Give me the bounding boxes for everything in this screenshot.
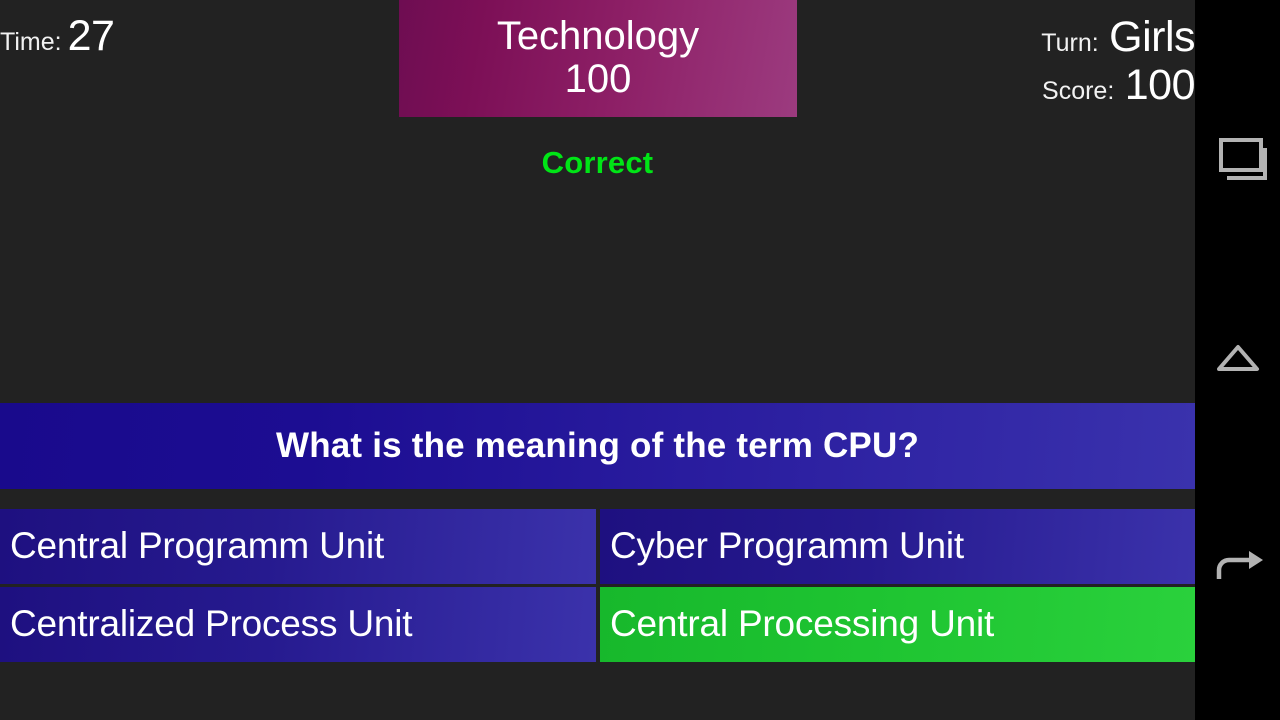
answer-option-3[interactable]: Centralized Process Unit <box>0 587 596 662</box>
app-screen: Time: 27 Turn: Girls Score: 100 Technolo… <box>0 0 1280 720</box>
home-icon <box>1207 329 1269 391</box>
turn-value: Girls <box>1109 13 1195 61</box>
answer-option-2[interactable]: Cyber Programm Unit <box>600 509 1195 584</box>
answer-options-grid: Central Programm Unit Cyber Programm Uni… <box>0 509 1195 662</box>
home-button[interactable] <box>1195 317 1280 403</box>
question-banner: What is the meaning of the term CPU? <box>0 403 1195 489</box>
quiz-game-area: Time: 27 Turn: Girls Score: 100 Technolo… <box>0 0 1195 720</box>
answer-option-4-label: Central Processing Unit <box>610 605 994 644</box>
timer-label: Time: <box>0 28 62 57</box>
back-arrow-icon <box>1207 529 1269 591</box>
category-points: 100 <box>565 57 632 102</box>
back-button[interactable] <box>1195 517 1280 603</box>
timer-value: 27 <box>68 12 115 61</box>
score-label: Score: <box>1042 77 1114 105</box>
answer-option-2-label: Cyber Programm Unit <box>610 527 964 566</box>
timer-display: Time: 27 <box>0 12 114 61</box>
answer-option-4[interactable]: Central Processing Unit <box>600 587 1195 662</box>
answer-option-3-label: Centralized Process Unit <box>10 605 412 644</box>
category-banner: Technology 100 <box>399 0 797 117</box>
score-value: 100 <box>1125 61 1195 109</box>
turn-label: Turn: <box>1041 29 1098 57</box>
recent-apps-icon <box>1207 128 1269 190</box>
answer-feedback-text: Correct <box>0 145 1195 181</box>
android-navigation-bar <box>1195 0 1280 720</box>
question-text: What is the meaning of the term CPU? <box>264 426 931 466</box>
answer-option-1-label: Central Programm Unit <box>10 527 384 566</box>
recent-apps-button[interactable] <box>1195 116 1280 202</box>
answer-option-1[interactable]: Central Programm Unit <box>0 509 596 584</box>
category-name: Technology <box>497 15 699 57</box>
